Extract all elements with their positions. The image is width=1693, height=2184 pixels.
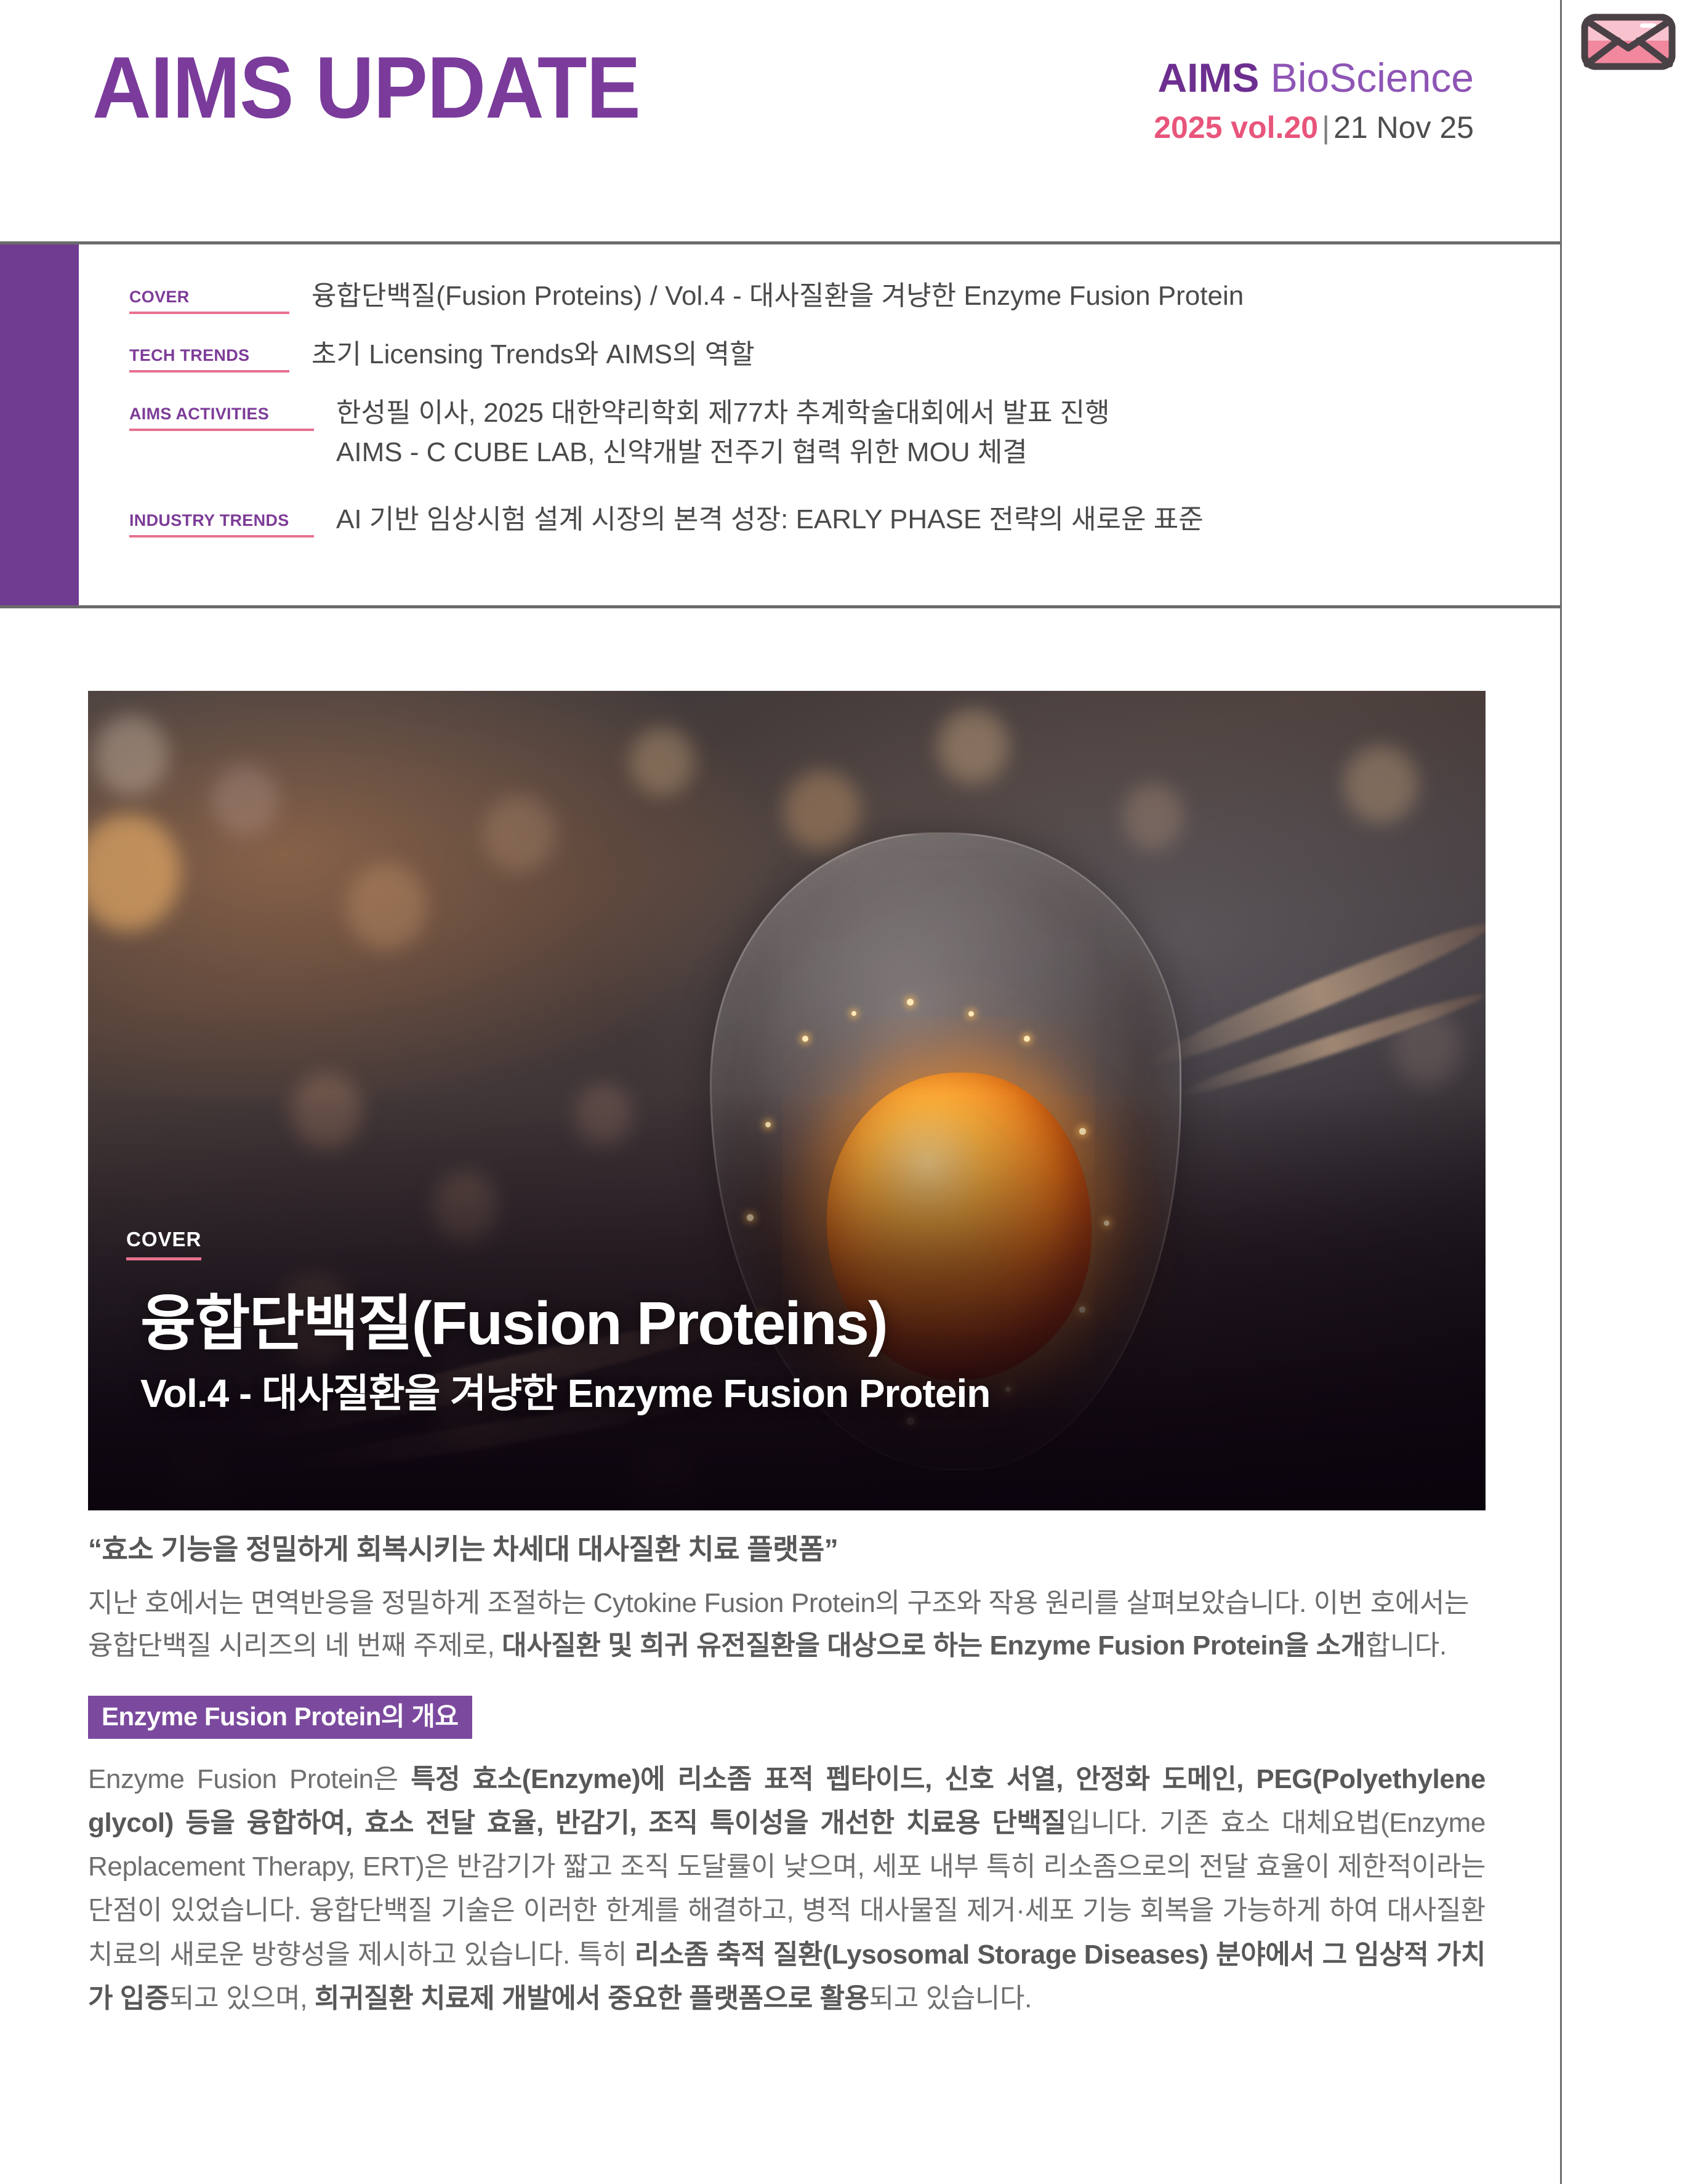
- article-body: “효소 기능을 정밀하게 회복시키는 차세대 대사질환 치료 플랫폼” 지난 호…: [88, 1531, 1486, 2047]
- toc-text-group-tech-trends: 초기 Licensing Trends와 AIMS의 역할: [289, 347, 755, 372]
- toc-text-group-industry-trends: AI 기반 임상시험 설계 시장의 본격 성장: EARLY PHASE 전략의…: [314, 512, 1204, 537]
- toc-divider: [0, 605, 1560, 608]
- body-text-3: 되고 있으며,: [169, 1983, 315, 2013]
- purple-accent-block: [0, 244, 79, 606]
- toc-tag-cover: COVER: [129, 289, 289, 314]
- article-paragraph: Enzyme Fusion Protein은 특정 효소(Enzyme)에 리소…: [88, 1757, 1486, 2021]
- toc-row-industry-trends[interactable]: INDUSTRY TRENDS AI 기반 임상시험 설계 시장의 본격 성장:…: [129, 512, 1204, 538]
- page-border-right: [1560, 0, 1562, 2184]
- toc-text-group-cover: 융합단백질(Fusion Proteins) / Vol.4 - 대사질환을 겨…: [289, 289, 1244, 313]
- brand-subtitle-aims: AIMS: [1157, 55, 1259, 100]
- newsletter-page: AIMS UPDATE AIMS BioScience 2025 vol.20|…: [0, 0, 1693, 2184]
- cover-badge-label: COVER: [126, 1229, 201, 1260]
- issue-date: 21 Nov 25: [1333, 110, 1474, 145]
- article-intro: 지난 호에서는 면역반응을 정밀하게 조절하는 Cytokine Fusion …: [88, 1582, 1486, 1667]
- table-of-contents: COVER 융합단백질(Fusion Proteins) / Vol.4 - 대…: [0, 244, 1560, 606]
- toc-item-label[interactable]: 융합단백질(Fusion Proteins) / Vol.4 - 대사질환을 겨…: [312, 279, 1244, 313]
- cover-subtitle: Vol.4 - 대사질환을 겨냥한 Enzyme Fusion Protein: [140, 1372, 990, 1415]
- toc-row-aims-activities[interactable]: AIMS ACTIVITIES 한성필 이사, 2025 대한약리학회 제77차…: [129, 406, 1110, 470]
- toc-tag-aims-activities: AIMS ACTIVITIES: [129, 406, 314, 431]
- issue-line: 2025 vol.20|21 Nov 25: [1043, 111, 1474, 144]
- article-pullquote: “효소 기능을 정밀하게 회복시키는 차세대 대사질환 치료 플랫폼”: [88, 1531, 1486, 1568]
- toc-tag-tech-trends: TECH TRENDS: [129, 347, 289, 373]
- brand-meta: AIMS BioScience 2025 vol.20|21 Nov 25: [1043, 57, 1474, 144]
- page-title: AIMS UPDATE: [92, 44, 640, 132]
- toc-item-label[interactable]: 초기 Licensing Trends와 AIMS의 역할: [312, 337, 755, 372]
- cover-title: 융합단백질(Fusion Proteins): [140, 1292, 887, 1356]
- intro-text-bold: 대사질환 및 희귀 유전질환을 대상으로 하는 Enzyme Fusion Pr…: [502, 1630, 1365, 1661]
- intro-text-2: 합니다.: [1365, 1630, 1447, 1661]
- issue-separator: |: [1318, 110, 1333, 145]
- toc-item-label[interactable]: 한성필 이사, 2025 대한약리학회 제77차 추계학술대회에서 발표 진행: [336, 396, 1110, 430]
- section-heading: Enzyme Fusion Protein의 개요: [88, 1696, 472, 1739]
- toc-text-group-aims-activities: 한성필 이사, 2025 대한약리학회 제77차 추계학술대회에서 발표 진행 …: [314, 406, 1110, 470]
- cover-badge: COVER: [126, 1229, 201, 1260]
- envelope-icon[interactable]: [1581, 14, 1676, 70]
- issue-volume: 2025 vol.20: [1154, 110, 1318, 145]
- body-text-4: 되고 있습니다.: [869, 1983, 1032, 2013]
- toc-item-label[interactable]: AIMS - C CUBE LAB, 신약개발 전주기 협력 위한 MOU 체결: [336, 435, 1110, 470]
- masthead: AIMS UPDATE AIMS BioScience 2025 vol.20|…: [0, 0, 1560, 243]
- brand-subtitle-bioscience: BioScience: [1271, 55, 1474, 100]
- toc-row-cover[interactable]: COVER 융합단백질(Fusion Proteins) / Vol.4 - 대…: [129, 289, 1244, 314]
- toc-row-tech-trends[interactable]: TECH TRENDS 초기 Licensing Trends와 AIMS의 역…: [129, 347, 755, 373]
- brand-subtitle: AIMS BioScience: [1043, 57, 1474, 99]
- body-text-1: Enzyme Fusion Protein은: [88, 1764, 411, 1794]
- toc-tag-industry-trends: INDUSTRY TRENDS: [129, 512, 314, 538]
- body-text-bold-3: 희귀질환 치료제 개발에서 중요한 플랫폼으로 활용: [315, 1983, 869, 2013]
- toc-item-label[interactable]: AI 기반 임상시험 설계 시장의 본격 성장: EARLY PHASE 전략의…: [336, 502, 1204, 537]
